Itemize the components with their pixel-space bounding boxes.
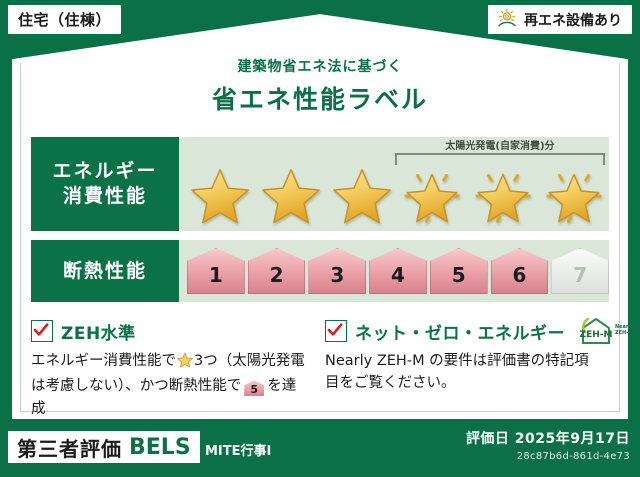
zeh-desc-part3: は考慮しない）、かつ断熱性能で (31, 378, 241, 394)
bels-jp-label: 第三者評価 (17, 433, 122, 462)
star-3 (326, 163, 397, 229)
energy-label-line1: エネルギー (52, 159, 157, 184)
grade-value: 6 (512, 263, 526, 287)
star-1 (185, 163, 256, 229)
insulation-grade-2: 2 (248, 248, 306, 294)
bels-chip: 第三者評価 BELS (8, 431, 200, 463)
project-name: MITE行事Ⅰ (205, 440, 271, 459)
criteria-zeh-header: ZEH水準 (31, 318, 307, 344)
insulation-performance-row: 断熱性能 1 2 3 4 5 6 7 (31, 240, 609, 302)
zeh-desc-part1: エネルギー消費性能で (31, 353, 176, 369)
star-5 (468, 163, 539, 229)
insulation-performance-label-box: 断熱性能 (31, 240, 179, 302)
zeh-title: ZEH水準 (61, 319, 136, 344)
title-subtitle: 建築物省エネ法に基づく (0, 56, 640, 76)
nze-desc-line2: 目をご覧ください。 (325, 372, 601, 394)
inline-grade-badge: 5 (244, 380, 264, 396)
criteria-nze-header: ネット・ゼロ・エネルギー ZEH-M Nearly ZEH-M (325, 318, 601, 344)
evaluation-id: 28c87b6d-861d-4e73 (466, 451, 630, 462)
insulation-label: 断熱性能 (63, 259, 147, 284)
insulation-grade-5: 5 (430, 248, 488, 294)
grade-value: 1 (209, 263, 223, 287)
criteria-nze-panel: ネット・ゼロ・エネルギー ZEH-M Nearly ZEH-M Nearly Z… (325, 318, 601, 395)
star-sparkle-icon (402, 167, 462, 225)
insulation-grade-6: 6 (491, 248, 549, 294)
energy-performance-label-box: エネルギー 消費性能 (31, 137, 179, 231)
zeh-checkbox[interactable] (31, 320, 53, 342)
insulation-grade-3: 3 (308, 248, 366, 294)
sun-icon: D (496, 8, 518, 32)
solar-bracket-label: 太陽光発電(自家消費)分 (395, 137, 605, 152)
nze-description: Nearly ZEH-M の要件は評価書の特記項 目をご覧ください。 (325, 350, 601, 395)
title-main: 省エネ性能ラベル (0, 80, 640, 116)
zehm-house-icon: ZEH-M (579, 317, 613, 345)
star-sparkle-icon (473, 167, 533, 225)
check-icon (327, 322, 343, 338)
house-type-label: 住宅（住棟） (18, 9, 111, 30)
star-icon (261, 167, 321, 225)
grade-value: 5 (452, 263, 466, 287)
label-title-block: 建築物省エネ法に基づく 省エネ性能ラベル (0, 56, 640, 116)
grade-value: 3 (330, 263, 344, 287)
renewable-energy-chip: D 再エネ設備あり (488, 5, 632, 34)
star-6 (538, 163, 609, 229)
stars-row (179, 163, 609, 229)
nze-checkbox[interactable] (325, 320, 347, 342)
energy-performance-label: 住宅（住棟） D 再エネ設備あり 建築物省エネ法に基づ (0, 0, 640, 477)
star-4 (397, 163, 468, 229)
evaluation-date: 評価日 2025年9月17日 (466, 428, 630, 448)
insulation-grade-4: 4 (369, 248, 427, 294)
insulation-grade-1: 1 (187, 248, 245, 294)
grade-value: 7 (573, 263, 587, 287)
renewable-energy-label: 再エネ設備あり (524, 10, 622, 30)
nze-title: ネット・ゼロ・エネルギー (355, 319, 565, 344)
grade-value: 4 (391, 263, 405, 287)
house-type-chip: 住宅（住棟） (8, 5, 121, 34)
svg-text:D: D (505, 14, 509, 20)
nze-desc-line1: Nearly ZEH-M の要件は評価書の特記項 (325, 350, 601, 372)
insulation-grade-7: 7 (551, 248, 609, 294)
svg-text:ZEH-M: ZEH-M (580, 330, 613, 340)
evaluation-info: 評価日 2025年9月17日 28c87b6d-861d-4e73 (466, 428, 630, 462)
zehm-logo: ZEH-M Nearly ZEH-M (579, 317, 633, 345)
insulation-grades-area: 1 2 3 4 5 6 7 (179, 240, 609, 302)
criteria-zeh-panel: ZEH水準 エネルギー消費性能で3つ（太陽光発電は考慮しない）、かつ断熱性能で5… (31, 318, 307, 420)
star-2 (256, 163, 327, 229)
footer-bar: 第三者評価 BELS MITE行事Ⅰ 評価日 2025年9月17日 28c87b… (0, 419, 640, 477)
zeh-description: エネルギー消費性能で3つ（太陽光発電は考慮しない）、かつ断熱性能で5を達成 (31, 350, 307, 420)
inline-star-icon (177, 352, 193, 375)
zeh-desc-part2: 3つ（太陽光発電 (194, 353, 305, 369)
zehm-logo-sub: Nearly ZEH-M (615, 325, 633, 337)
insulation-grade-row: 1 2 3 4 5 6 7 (179, 240, 609, 302)
star-sparkle-icon (544, 167, 604, 225)
bels-en-label: BELS (129, 435, 191, 460)
star-icon (190, 167, 250, 225)
energy-label-line2: 消費性能 (63, 184, 147, 209)
zehm-sub-line2: ZEH-M (615, 331, 633, 337)
check-icon (33, 322, 49, 338)
star-icon (332, 167, 392, 225)
grade-value: 2 (270, 263, 284, 287)
energy-performance-row: エネルギー 消費性能 太陽光発電(自家消費)分 (31, 137, 609, 231)
energy-stars-area: 太陽光発電(自家消費)分 (179, 137, 609, 231)
